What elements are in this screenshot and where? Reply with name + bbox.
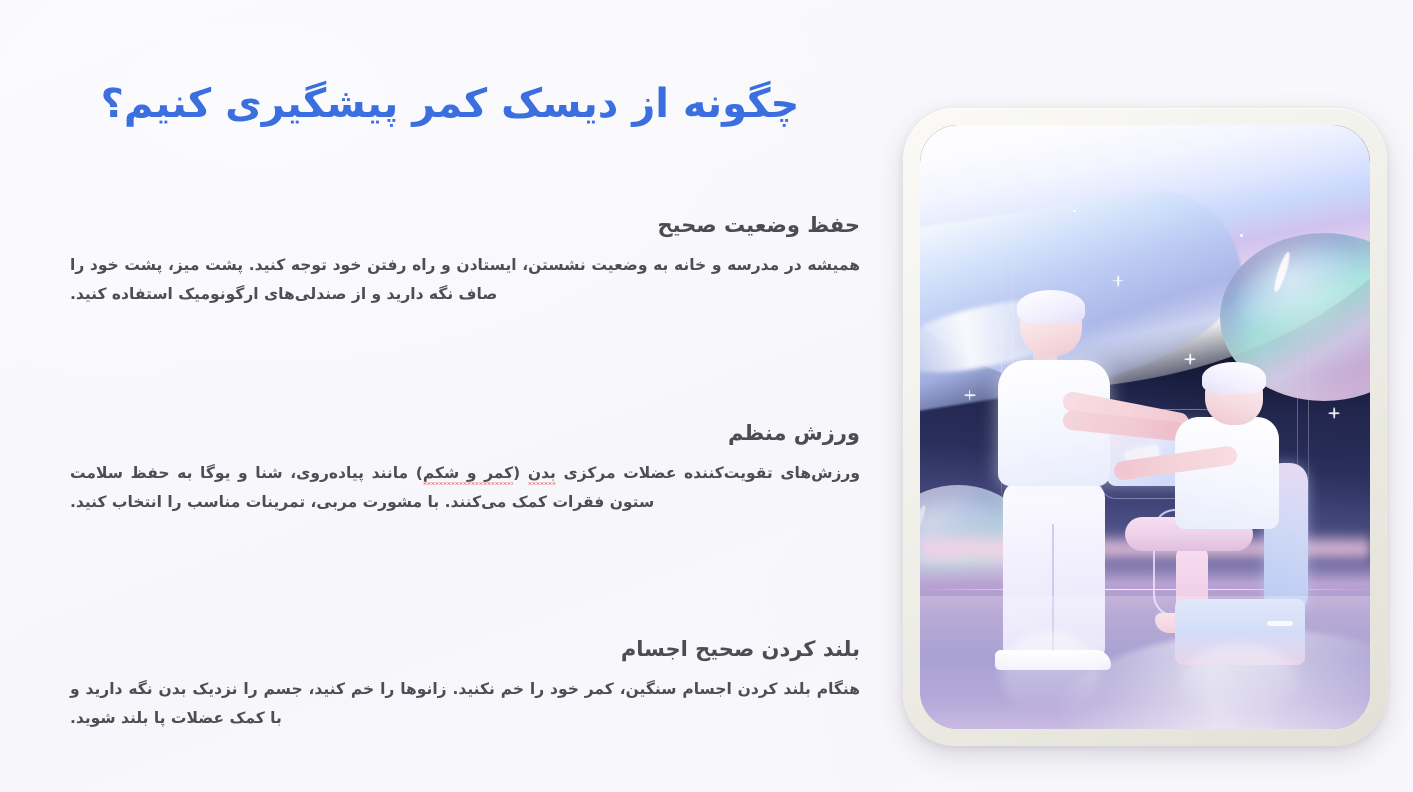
exercise-text-b: ( bbox=[513, 464, 528, 482]
star-icon bbox=[965, 391, 974, 400]
slide-canvas: چگونه از دیسک کمر پیشگیری کنیم؟ حفظ وضعی… bbox=[0, 0, 1413, 792]
reflection-blob bbox=[1181, 644, 1298, 716]
standing-person-hair bbox=[1017, 290, 1085, 324]
section-body-lifting: هنگام بلند کردن اجسام سنگین، کمر خود را … bbox=[70, 675, 860, 732]
text-column: چگونه از دیسک کمر پیشگیری کنیم؟ حفظ وضعی… bbox=[40, 0, 860, 792]
page-title: چگونه از دیسک کمر پیشگیری کنیم؟ bbox=[40, 79, 860, 129]
reflection-blob bbox=[1001, 632, 1100, 717]
exercise-text-a: ورزش‌های تقویت‌کننده عضلات مرکزی bbox=[556, 464, 860, 482]
posture-text-part1: همیشه در مدرسه و خانه به وضعیت نشستن، ای… bbox=[255, 256, 860, 274]
ergonomic-posture-illustration bbox=[920, 125, 1370, 729]
spellcheck-word-badan: بدن bbox=[528, 464, 556, 485]
section-heading-lifting: بلند کردن صحیح اجسام bbox=[70, 636, 860, 663]
lifting-text-part2: زانوها را خم کنید، جسم را نزدیک بدن نگه … bbox=[70, 680, 447, 727]
seated-person-hair bbox=[1202, 362, 1266, 394]
section-exercise: ورزش منظم ورزش‌های تقویت‌کننده عضلات مرک… bbox=[70, 420, 860, 517]
section-body-posture: همیشه در مدرسه و خانه به وضعیت نشستن، ای… bbox=[70, 251, 860, 308]
illustration-frame bbox=[903, 108, 1387, 746]
section-heading-exercise: ورزش منظم bbox=[70, 420, 860, 447]
star-icon bbox=[1186, 355, 1195, 364]
section-posture: حفظ وضعیت صحیح همیشه در مدرسه و خانه به … bbox=[70, 212, 860, 309]
exercise-text-d: با مشورت مربی، تمرینات مناسب را انتخاب ک… bbox=[70, 493, 439, 511]
lifting-text-part1: هنگام بلند کردن اجسام سنگین، کمر خود را … bbox=[458, 680, 860, 698]
section-heading-posture: حفظ وضعیت صحیح bbox=[70, 212, 860, 239]
section-body-exercise: ورزش‌های تقویت‌کننده عضلات مرکزی بدن (کم… bbox=[70, 459, 860, 516]
spellcheck-word-kamr-shekam: کمر و شکم bbox=[423, 464, 513, 485]
star-icon bbox=[1240, 234, 1243, 237]
section-lifting: بلند کردن صحیح اجسام هنگام بلند کردن اجس… bbox=[70, 636, 860, 733]
star-icon bbox=[1330, 409, 1339, 418]
star-icon bbox=[1073, 210, 1076, 213]
star-icon bbox=[1114, 276, 1123, 285]
illustration-container bbox=[903, 108, 1387, 746]
seated-person-torso bbox=[1175, 417, 1279, 529]
